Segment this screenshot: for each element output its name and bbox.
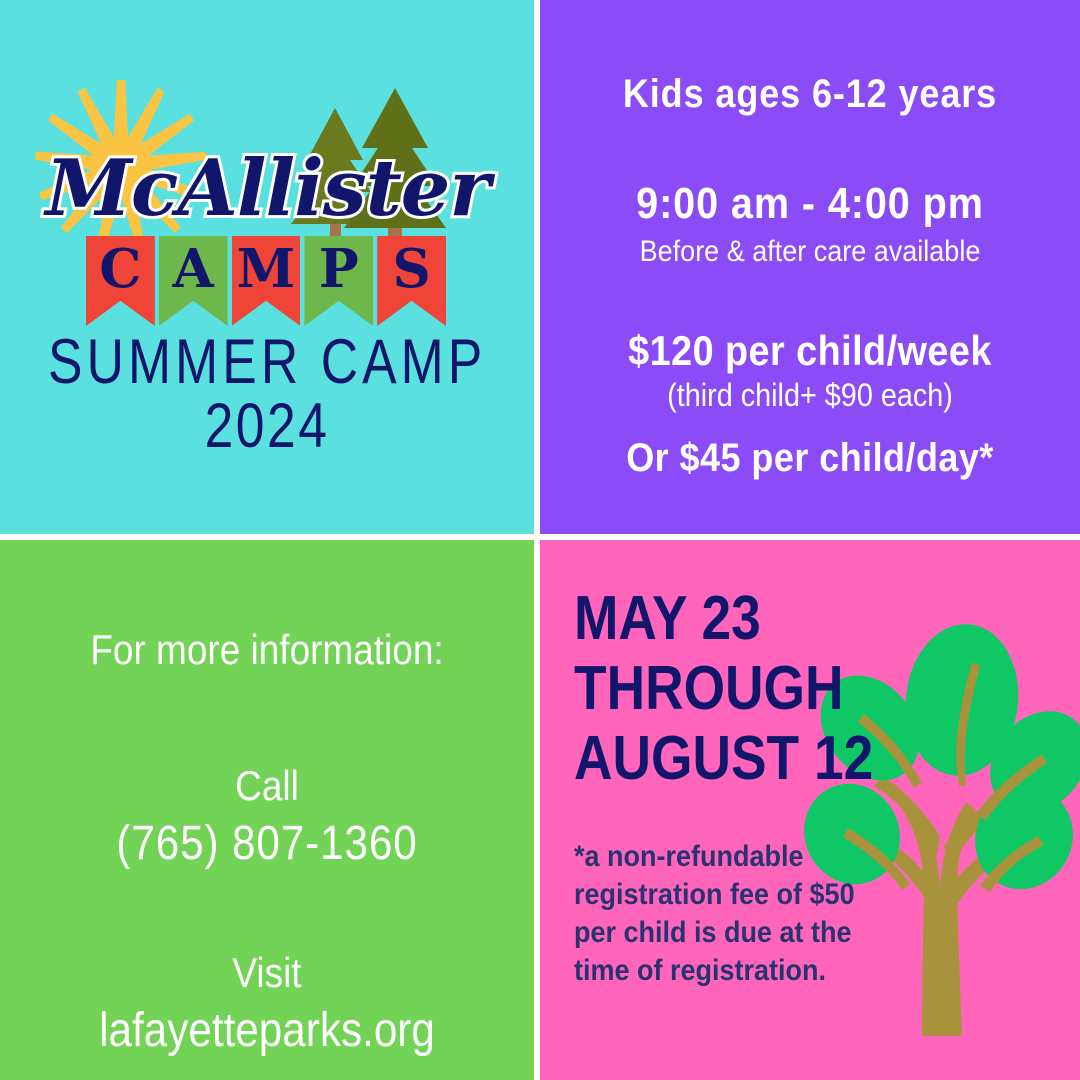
camp-details-panel: Kids ages 6-12 years 9:00 am - 4:00 pm B… — [540, 0, 1080, 534]
hours-text: 9:00 am - 4:00 pm — [596, 179, 1024, 229]
contact-panel: For more information: Call (765) 807-136… — [0, 540, 534, 1080]
registration-footnote: *a non-refundable registration fee of $5… — [574, 838, 871, 989]
dates-panel: MAY 23 THROUGH AUGUST 12 *a non-refundab… — [540, 540, 1080, 1080]
pennant-letter: S — [392, 243, 430, 296]
pennant-s: S — [377, 236, 446, 326]
pennant-a: A — [159, 236, 228, 326]
weekly-price-text: $120 per child/week — [596, 327, 1024, 375]
pennant-letter: A — [173, 243, 214, 296]
logo-panel: McAllister C A M P S SUMMER CAMP 2024 — [0, 0, 534, 534]
logo-script-name: McAllister — [30, 150, 505, 228]
poster-canvas: McAllister C A M P S SUMMER CAMP 2024 Ki… — [0, 0, 1080, 1080]
date-line-1: MAY 23 — [574, 584, 1009, 654]
phone-number[interactable]: (765) 807-1360 — [58, 816, 475, 871]
sibling-price-text: (third child+ $90 each) — [596, 377, 1024, 414]
contact-heading: For more information: — [58, 626, 475, 674]
camps-pennant-row: C A M P S — [86, 236, 446, 326]
pennant-letter: C — [99, 243, 141, 296]
summer-camp-heading: SUMMER CAMP — [48, 330, 486, 395]
camp-year: 2024 — [48, 394, 486, 459]
pennant-p: P — [304, 236, 373, 326]
ages-text: Kids ages 6-12 years — [596, 72, 1024, 117]
pennant-c: C — [86, 236, 155, 326]
pennant-m: M — [232, 236, 301, 326]
visit-label: Visit — [58, 949, 475, 997]
call-label: Call — [58, 762, 475, 810]
daily-price-text: Or $45 per child/day* — [596, 436, 1024, 481]
website-link[interactable]: lafayetteparks.org — [58, 1003, 475, 1058]
pennant-letter: M — [237, 243, 296, 296]
date-line-3: AUGUST 12 — [574, 724, 1009, 794]
pennant-letter: P — [319, 243, 359, 296]
date-line-2: THROUGH — [574, 654, 1009, 724]
care-note-text: Before & after care available — [596, 235, 1024, 269]
